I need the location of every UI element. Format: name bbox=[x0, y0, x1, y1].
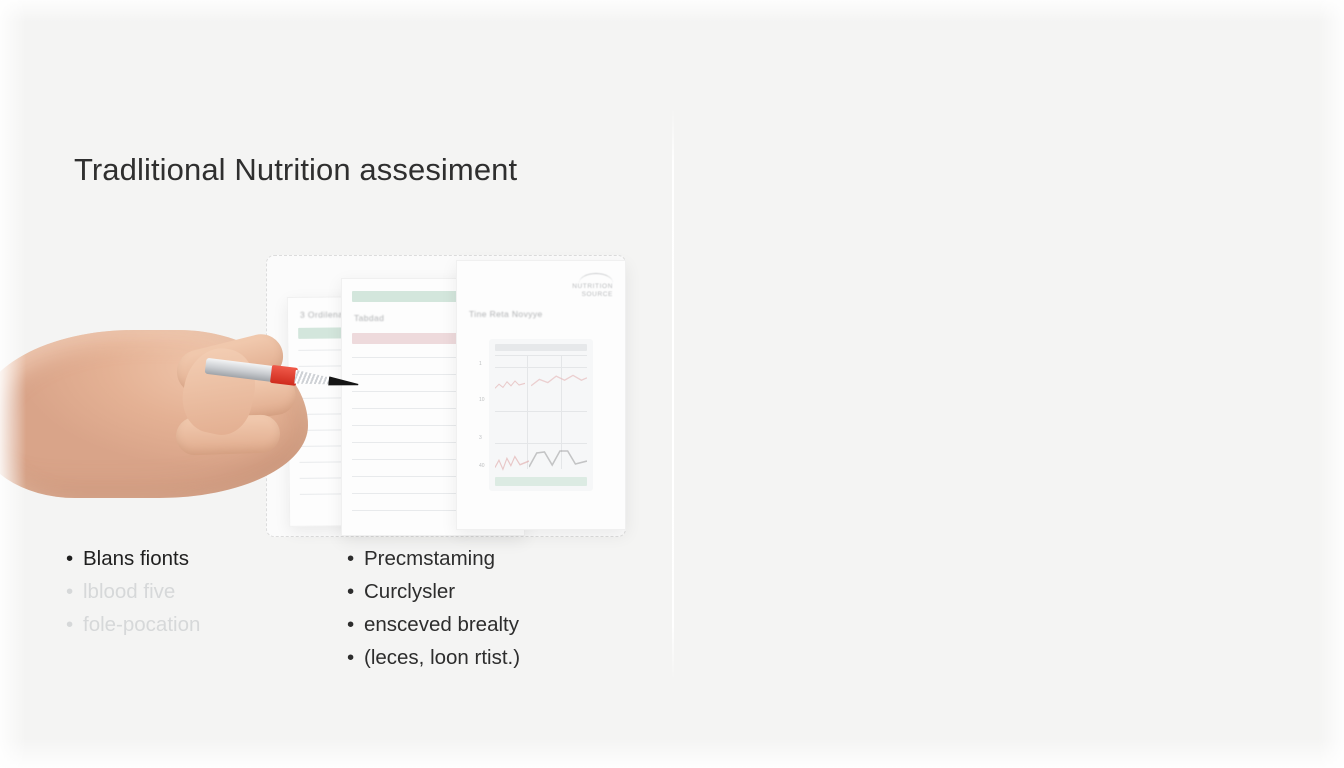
sparkline-chart bbox=[531, 373, 587, 389]
sparkline-chart bbox=[495, 451, 529, 473]
left-panel: Tradlitional Nutrition assesiment 3 Ordi… bbox=[0, 0, 672, 768]
list-item: (leces, loon rtist.) bbox=[347, 641, 520, 674]
sparkline-chart bbox=[495, 377, 525, 393]
left-bullet-list-1: Blans fionts lblood five fole-pocation bbox=[66, 542, 200, 641]
list-item: fole-pocation bbox=[66, 608, 200, 641]
logo-text: NUTRITION SOURCE bbox=[572, 283, 613, 299]
mini-table-row-divider bbox=[495, 367, 587, 368]
hand-illustration bbox=[0, 330, 308, 498]
pen-cone bbox=[294, 370, 333, 389]
left-panel-title: Tradlitional Nutrition assesiment bbox=[74, 151, 517, 189]
mini-table-footer bbox=[495, 477, 587, 486]
paper-sheet-front: NUTRITION SOURCE Tine Reta Novyye bbox=[456, 260, 626, 530]
middle-paper-heading: Tabdad bbox=[354, 313, 384, 323]
left-bullet-list-2: Precmstaming Curclysler ensceved brealty… bbox=[347, 542, 520, 674]
pen-barrel bbox=[205, 358, 278, 383]
front-paper-heading: Tine Reta Novyye bbox=[469, 309, 543, 319]
mini-table-row-divider bbox=[495, 443, 587, 444]
mini-table-row-divider bbox=[495, 411, 587, 412]
sparkline-chart bbox=[529, 447, 587, 471]
pen-tip bbox=[328, 375, 359, 391]
mini-data-table: 1 10 3 40 bbox=[489, 339, 593, 491]
nutrition-logo: NUTRITION SOURCE bbox=[572, 273, 613, 299]
list-item: Curclysler bbox=[347, 575, 520, 608]
mini-table-row-divider bbox=[495, 355, 587, 356]
list-item: Blans fionts bbox=[66, 542, 200, 575]
slide-canvas: Tradlitional Nutrition assesiment 3 Ordi… bbox=[0, 0, 1344, 768]
panel-divider bbox=[672, 108, 674, 680]
list-item: Precmstaming bbox=[347, 542, 520, 575]
mini-table-header bbox=[495, 344, 587, 351]
list-item: lblood five bbox=[66, 575, 200, 608]
pen-grip bbox=[270, 365, 298, 386]
logo-arc-icon bbox=[579, 273, 613, 283]
right-panel: Quantum Resonance Magnetic Magnec aevisw… bbox=[672, 0, 1344, 768]
list-item: ensceved brealty bbox=[347, 608, 520, 641]
